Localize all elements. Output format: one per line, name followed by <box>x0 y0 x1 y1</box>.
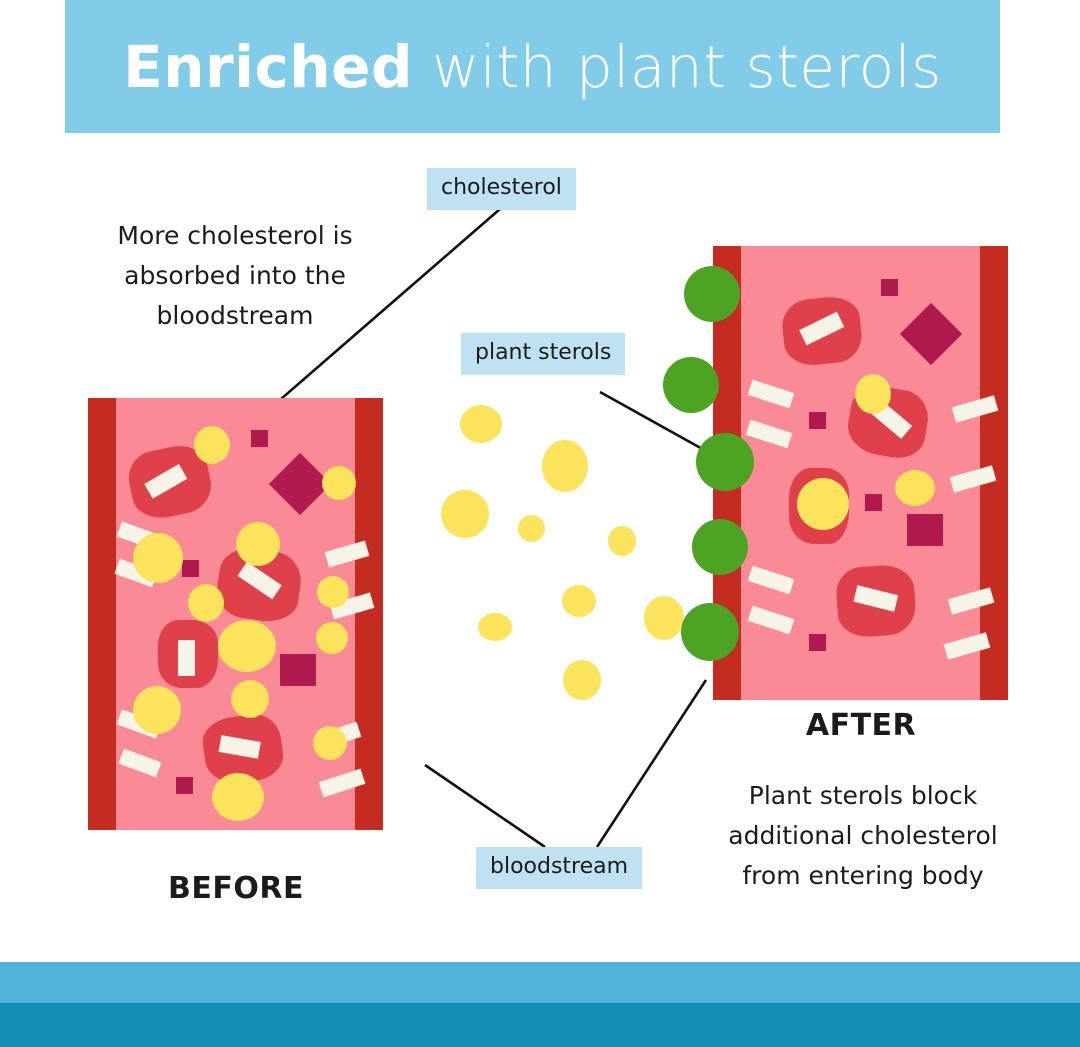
particle-square <box>280 654 316 686</box>
cholesterol-particle <box>797 478 849 530</box>
cholesterol-particle <box>212 773 264 821</box>
leader-bloodstream-right <box>597 680 706 847</box>
after-description: Plant sterols block additional cholester… <box>698 776 1028 896</box>
footer-band-dark <box>0 1003 1080 1047</box>
plant-sterol-blocker <box>681 603 739 661</box>
cholesterol-particle <box>236 522 280 566</box>
vessel-before <box>88 398 383 830</box>
footer-band-light <box>0 962 1080 1003</box>
rbc-slit <box>853 585 898 612</box>
particle-square <box>865 494 882 511</box>
bloodstream-cholesterol-particle <box>563 660 601 700</box>
red-blood-cell <box>158 620 218 688</box>
rbc-slit <box>178 640 195 676</box>
cholesterol-particle <box>313 726 347 760</box>
page-title-bold: Enriched <box>123 33 413 101</box>
cholesterol-particle <box>317 576 349 608</box>
bloodstream-cholesterol-particle <box>644 596 684 640</box>
before-caption: BEFORE <box>88 871 384 906</box>
label-chip-cholesterol[interactable]: cholesterol <box>427 168 576 210</box>
plant-sterol-blocker <box>684 266 740 322</box>
rbc-slit <box>219 735 261 759</box>
cholesterol-particle <box>194 426 230 464</box>
particle-square <box>251 430 268 447</box>
particle-square <box>809 634 826 651</box>
particle-square <box>809 412 826 429</box>
cholesterol-particle <box>188 584 224 622</box>
particle-square <box>176 777 193 794</box>
label-chip-plant-sterols[interactable]: plant sterols <box>461 333 625 375</box>
label-chip-bloodstream[interactable]: bloodstream <box>476 847 642 889</box>
cholesterol-particle <box>231 680 269 718</box>
bloodstream-cholesterol-particle <box>608 526 636 556</box>
bloodstream-cholesterol-particle <box>460 405 502 443</box>
vessel-wall-left <box>88 398 116 830</box>
bloodstream-cholesterol-particle <box>542 440 588 492</box>
plant-sterol-blocker <box>663 357 719 413</box>
particle-square <box>881 279 898 296</box>
header-banner: Enriched with plant sterols <box>65 0 1000 133</box>
plant-sterol-blocker <box>692 519 748 575</box>
bloodstream-cholesterol-particle <box>441 490 489 538</box>
cholesterol-particle <box>133 533 183 583</box>
cholesterol-particle <box>316 622 348 654</box>
rbc-slit <box>799 312 844 346</box>
bloodstream-cholesterol-particle <box>518 515 545 542</box>
bloodstream-cholesterol-particle <box>478 613 512 641</box>
rbc-slit <box>144 464 187 499</box>
before-description: More cholesterol is absorbed into the bl… <box>60 216 410 336</box>
cholesterol-particle <box>322 466 356 500</box>
after-caption: AFTER <box>713 708 1009 743</box>
rbc-slit <box>237 562 281 600</box>
plant-sterol-blocker <box>696 433 754 491</box>
page-title-rest: with plant sterols <box>413 33 942 101</box>
page-title: Enriched with plant sterols <box>123 33 942 101</box>
particle-square <box>907 514 943 546</box>
cholesterol-particle <box>855 374 891 414</box>
bloodstream-cholesterol-particle <box>562 585 596 617</box>
vessel-after <box>713 246 1008 700</box>
cholesterol-particle <box>218 620 276 672</box>
infographic-canvas: Enriched with plant sterols cholesterol … <box>0 0 1080 1047</box>
red-blood-cell <box>835 563 918 638</box>
leader-bloodstream-left <box>425 765 545 847</box>
cholesterol-particle <box>895 470 935 506</box>
vessel-wall-right <box>355 398 383 830</box>
particle-square <box>182 560 199 577</box>
cholesterol-particle <box>133 686 181 734</box>
